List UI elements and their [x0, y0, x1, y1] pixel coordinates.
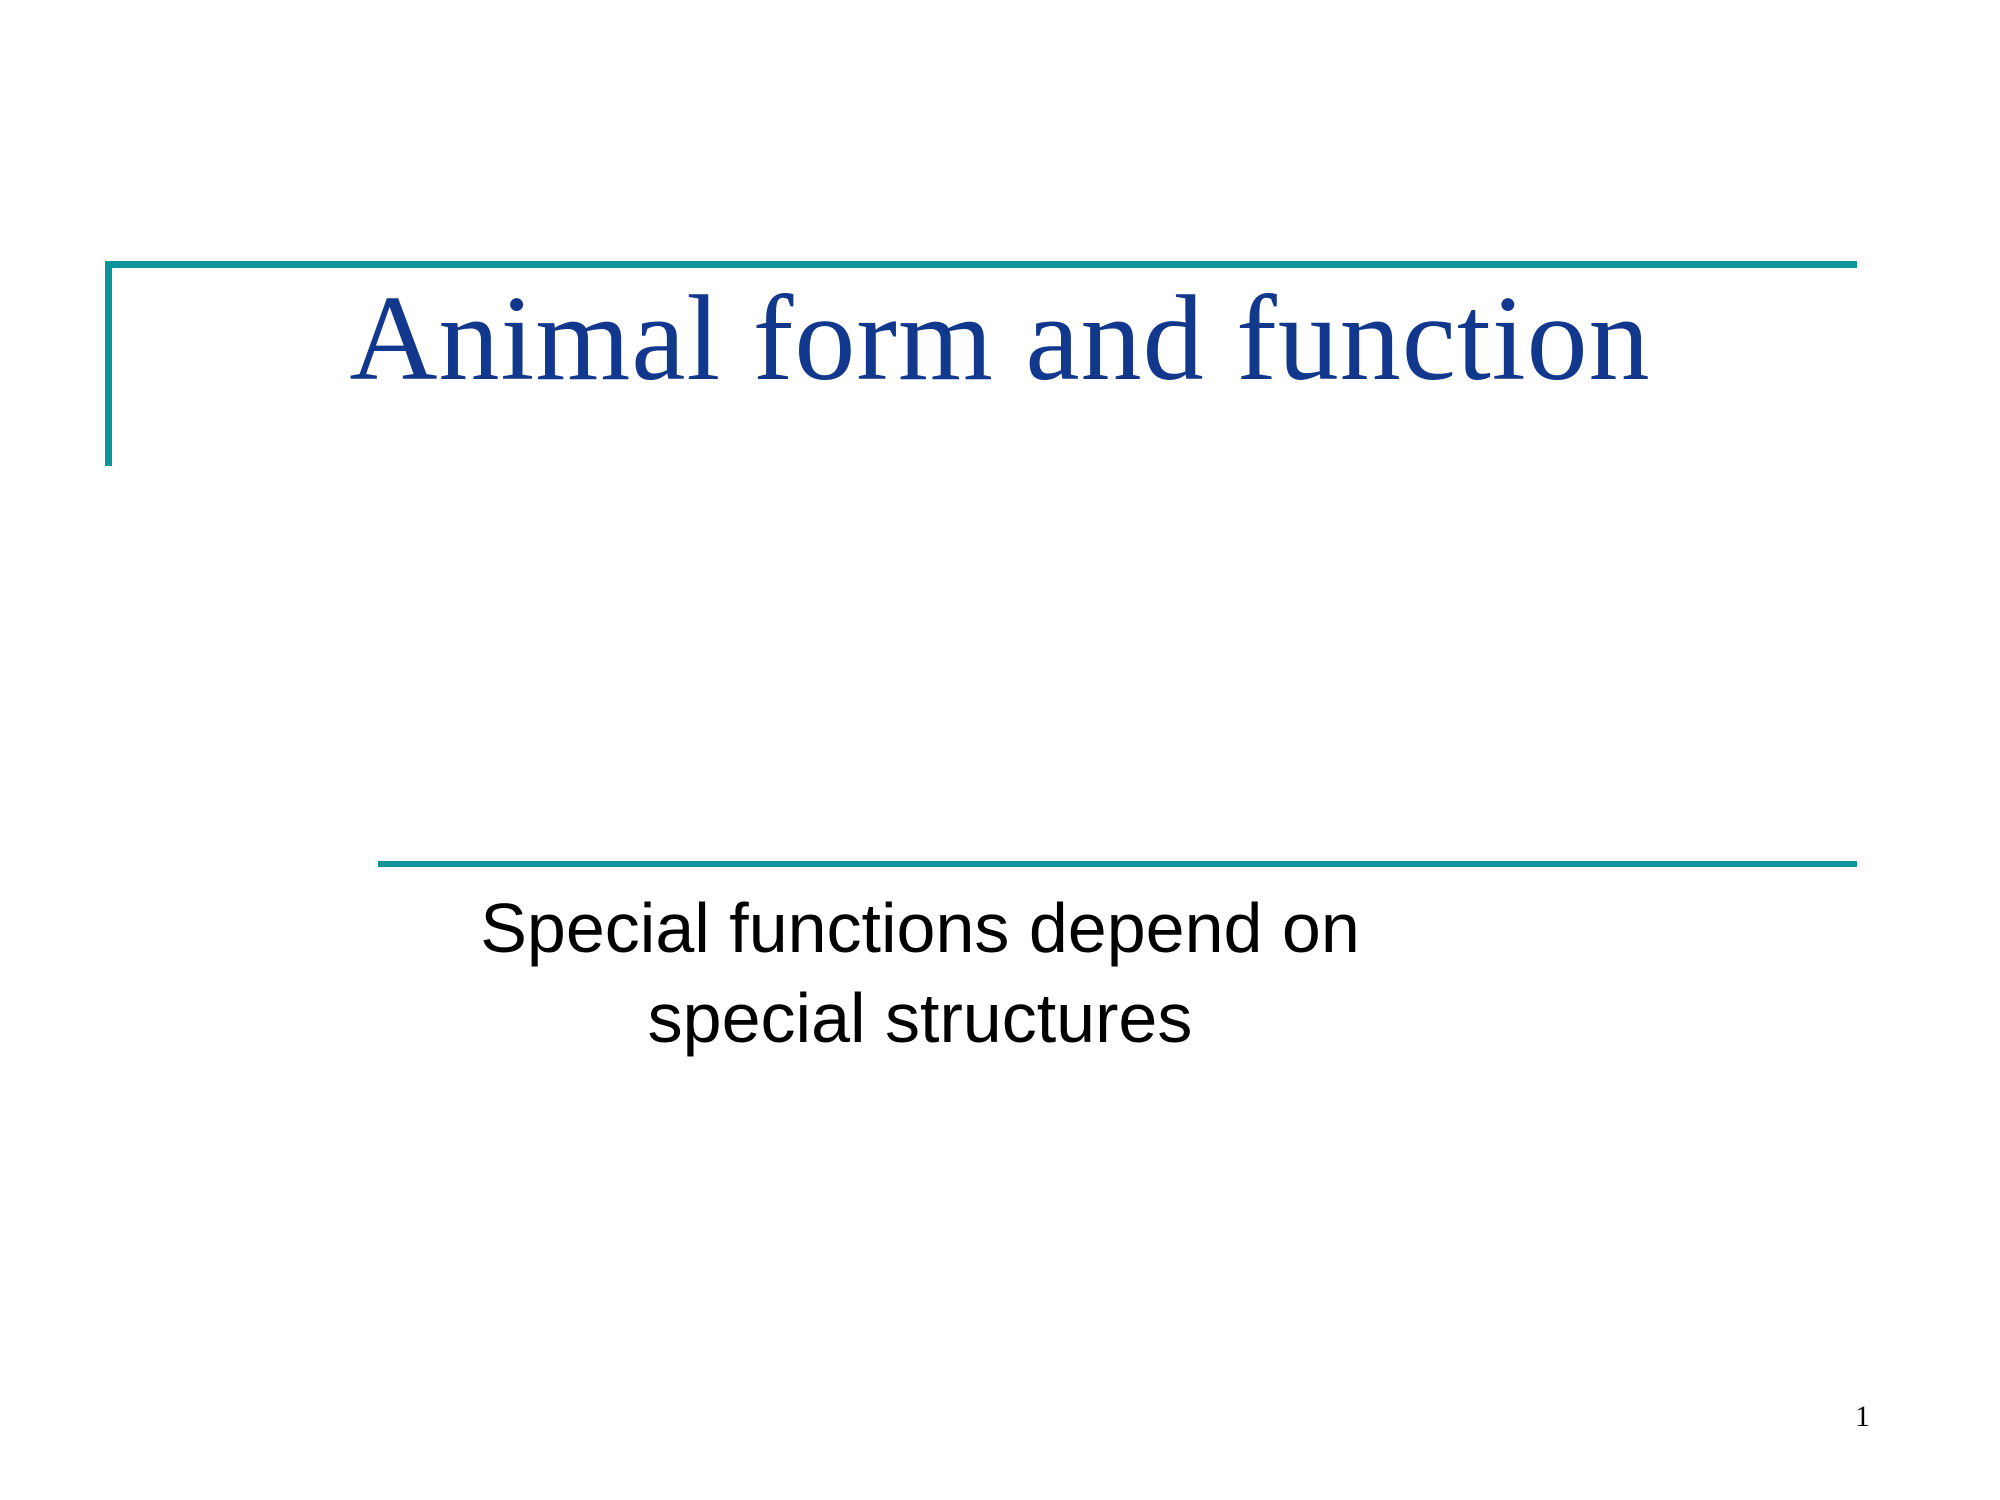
- title-left-rule: [105, 261, 112, 466]
- slide-canvas: Animal form and function Special functio…: [0, 0, 2000, 1500]
- slide-title: Animal form and function: [140, 275, 1860, 403]
- page-number: 1: [1855, 1400, 1870, 1434]
- subtitle-line-2: special structures: [340, 974, 1500, 1064]
- subtitle-divider-rule: [378, 861, 1857, 867]
- subtitle-line-1: Special functions depend on: [340, 884, 1500, 974]
- slide-subtitle: Special functions depend on special stru…: [340, 884, 1500, 1063]
- title-top-rule: [105, 261, 1857, 268]
